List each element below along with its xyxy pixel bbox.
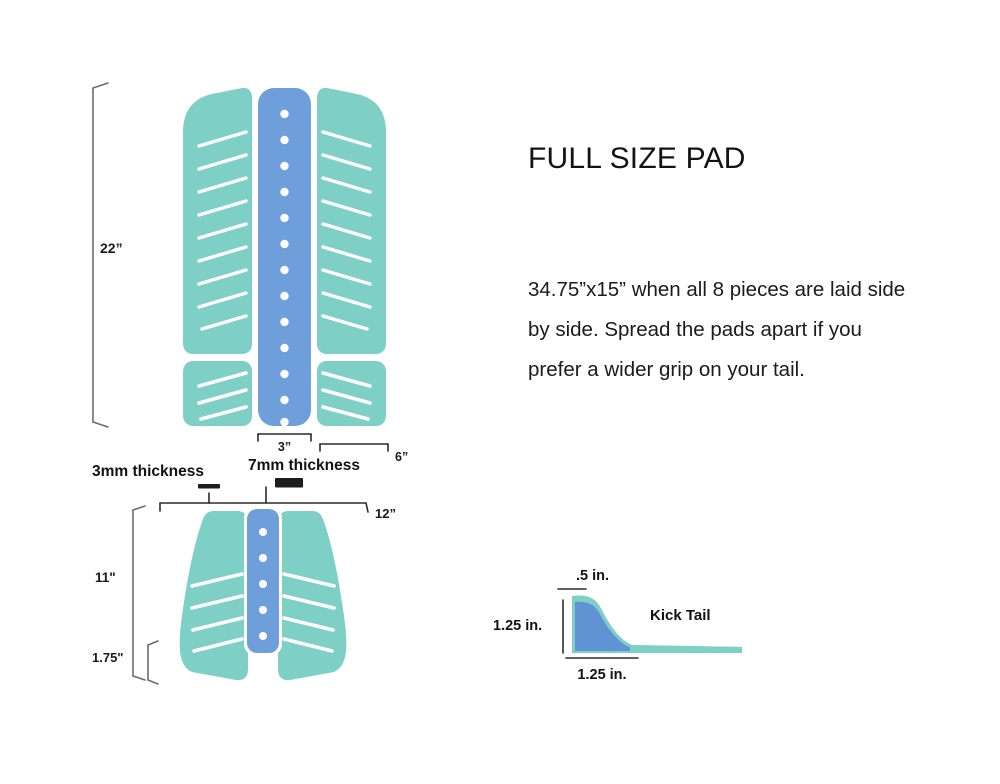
kick-left-dimension: 1.25 in. xyxy=(493,600,563,653)
kick-bottom-label: 1.25 in. xyxy=(577,667,626,683)
kick-tail-diagram: .5 in. 1.25 in. Kick Tail 1.25 in. xyxy=(480,548,780,688)
tail-piece-center-strip xyxy=(244,506,282,656)
height-dimension-22: 22” xyxy=(93,83,123,427)
pad-piece-center-strip xyxy=(258,88,311,426)
product-description: 34.75”x15” when all 8 pieces are laid si… xyxy=(528,270,920,390)
tail-piece-left xyxy=(180,511,248,680)
height-dimension-label: 11" xyxy=(95,570,116,585)
page-title: FULL SIZE PAD xyxy=(528,142,928,175)
pad-piece-front-left xyxy=(183,88,252,354)
pad-piece-tail-left xyxy=(183,361,252,426)
kick-top-label: .5 in. xyxy=(576,568,609,584)
full-pad-diagram: 22” xyxy=(70,70,430,490)
pad-piece-front-right xyxy=(317,88,386,354)
kick-tail-profile xyxy=(572,596,742,653)
thick-thickness-swatch xyxy=(275,478,303,488)
height-dimension-label: 22” xyxy=(100,240,123,256)
pad-piece-tail-right xyxy=(317,361,386,426)
width-dimension-label: 12” xyxy=(375,506,396,521)
kick-bottom-dimension: 1.25 in. xyxy=(566,658,638,683)
lower-dimension-175: 1.75" xyxy=(92,641,158,684)
thick-thickness-label: 7mm thickness xyxy=(248,457,360,474)
kick-tail-name-label: Kick Tail xyxy=(650,607,711,624)
kick-top-dimension: .5 in. xyxy=(558,568,609,589)
product-copy-panel: FULL SIZE PAD 34.75”x15” when all 8 piec… xyxy=(528,142,928,175)
tail-piece-right xyxy=(278,511,346,680)
lower-dimension-label: 1.75" xyxy=(92,650,123,665)
thin-thickness-label: 3mm thickness xyxy=(92,463,204,480)
kick-left-label: 1.25 in. xyxy=(493,618,542,634)
thin-thickness-swatch xyxy=(198,484,220,489)
tail-pad-diagram: 3mm thickness 7mm thickness 12” 11" 1.75… xyxy=(70,440,430,690)
